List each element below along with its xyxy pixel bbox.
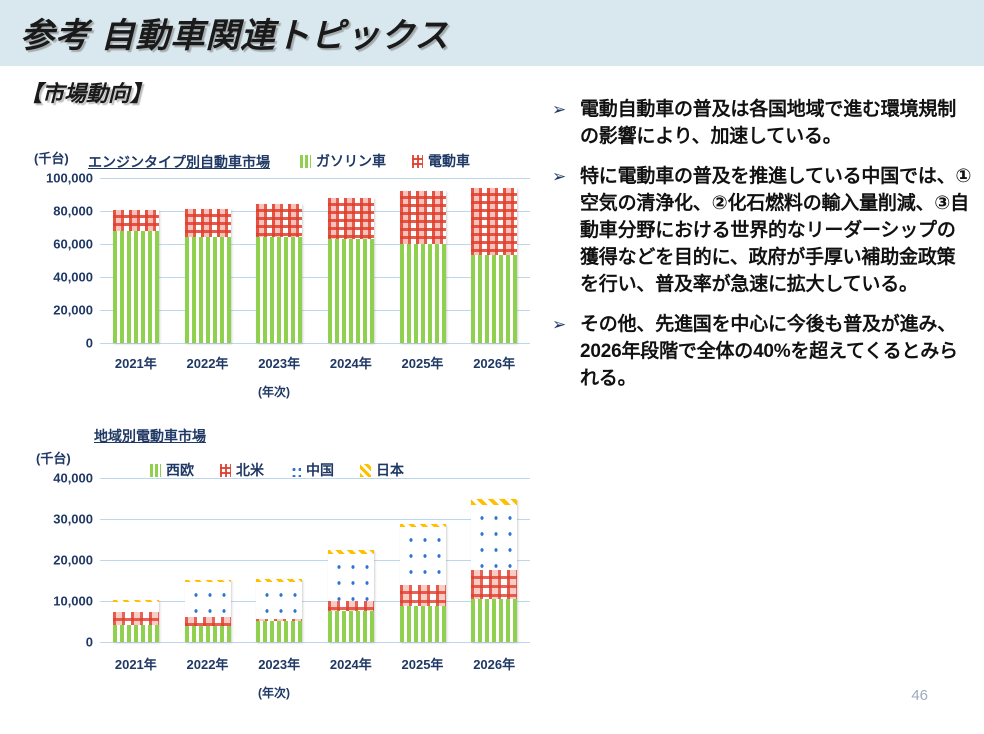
- x-axis-label: (年次): [258, 684, 290, 701]
- legend-item: 電動車: [412, 151, 470, 171]
- x-axis-tick: 2024年: [315, 654, 387, 673]
- y-axis-tick: 20,000: [53, 553, 93, 568]
- x-axis-tick: 2026年: [458, 353, 530, 372]
- bar-segment: [113, 612, 159, 624]
- legend-swatch-icon: [412, 155, 423, 168]
- bullet-item: ➢その他、先進国を中心に今後も普及が進み、2026年段階で全体の40%を超えてく…: [552, 311, 972, 392]
- bullet-item: ➢電動自動車の普及は各国地域で進む環境規制の影響により、加速している。: [552, 96, 972, 150]
- bar-segment: [185, 580, 231, 582]
- gridline: [100, 244, 530, 245]
- bar-segment: [113, 600, 159, 602]
- bar-segment: [400, 244, 446, 343]
- gridline: [100, 519, 530, 520]
- y-axis-tick: 60,000: [53, 237, 93, 252]
- slide-header: 参考 自動車関連トピックス: [0, 0, 984, 66]
- legend-swatch-icon: [220, 464, 231, 477]
- gridline: [100, 478, 530, 479]
- bar-segment: [256, 621, 302, 642]
- bar-stack: [400, 191, 446, 343]
- legend-label: 日本: [376, 460, 404, 480]
- bar-stack: [471, 188, 517, 343]
- bullet-arrow-icon: ➢: [552, 311, 580, 392]
- bar-segment: [113, 602, 159, 612]
- bar-segment: [185, 617, 231, 626]
- legend-label: 中国: [306, 460, 334, 480]
- bar-segment: [113, 625, 159, 642]
- x-axis-tick: 2022年: [172, 353, 244, 372]
- bar-segment: [256, 619, 302, 620]
- bar-stack: [185, 580, 231, 642]
- chart-legend: 西欧北米中国日本: [150, 460, 430, 480]
- bar-segment: [256, 204, 302, 238]
- bar-segment: [471, 599, 517, 642]
- x-axis-tick: 2022年: [172, 654, 244, 673]
- x-axis-tick: 2021年: [100, 353, 172, 372]
- bar-segment: [185, 237, 231, 343]
- chart-regional-ev-market: (千台)地域別電動車市場西欧北米中国日本010,00020,00030,0004…: [0, 424, 545, 699]
- bar-segment: [328, 550, 374, 554]
- page-number: 46: [911, 687, 928, 704]
- bar-segment: [400, 585, 446, 606]
- legend-label: 西欧: [166, 460, 194, 480]
- legend-item: ガソリン車: [300, 151, 386, 171]
- gridline: [100, 642, 530, 643]
- bar-segment: [400, 606, 446, 642]
- bar-segment: [256, 237, 302, 343]
- bar-segment: [185, 582, 231, 618]
- bar-segment: [400, 527, 446, 585]
- x-axis-label: (年次): [258, 383, 290, 400]
- legend-label: ガソリン車: [316, 151, 386, 171]
- bar-segment: [113, 231, 159, 343]
- legend-swatch-icon: [300, 155, 311, 168]
- legend-item: 西欧: [150, 460, 194, 480]
- legend-item: 日本: [360, 460, 404, 480]
- bar-segment: [471, 255, 517, 343]
- bar-stack: [256, 204, 302, 343]
- bar-stack: [113, 210, 159, 343]
- legend-item: 北米: [220, 460, 264, 480]
- plot-area: 010,00020,00030,00040,0002021年2022年2023年…: [100, 478, 530, 642]
- x-axis-tick: 2025年: [387, 654, 459, 673]
- gridline: [100, 178, 530, 179]
- commentary-list: ➢電動自動車の普及は各国地域で進む環境規制の影響により、加速している。➢特に電動…: [552, 96, 972, 405]
- legend-label: 北米: [236, 460, 264, 480]
- gridline: [100, 560, 530, 561]
- x-axis-tick: 2026年: [458, 654, 530, 673]
- bar-segment: [328, 601, 374, 611]
- plot-area: 020,00040,00060,00080,000100,0002021年202…: [100, 178, 530, 343]
- x-axis-tick: 2023年: [243, 353, 315, 372]
- legend-item: 中国: [290, 460, 334, 480]
- gridline: [100, 343, 530, 344]
- bullet-arrow-icon: ➢: [552, 96, 580, 150]
- y-axis-tick: 40,000: [53, 270, 93, 285]
- chart-title: エンジンタイプ別自動車市場: [88, 152, 270, 172]
- y-axis-tick: 10,000: [53, 594, 93, 609]
- page-title: 参考 自動車関連トピックス: [20, 8, 449, 57]
- bullet-text: その他、先進国を中心に今後も普及が進み、2026年段階で全体の40%を超えてくる…: [580, 311, 972, 392]
- gridline: [100, 211, 530, 212]
- section-subtitle: 【市場動向】: [20, 76, 152, 108]
- chart-engine-type-market: (千台)エンジンタイプ別自動車市場ガソリン車電動車020,00040,00060…: [0, 146, 545, 396]
- gridline: [100, 277, 530, 278]
- bar-stack: [256, 579, 302, 642]
- bar-segment: [400, 524, 446, 527]
- bar-stack: [185, 209, 231, 343]
- bullet-text: 電動自動車の普及は各国地域で進む環境規制の影響により、加速している。: [580, 96, 972, 150]
- bar-segment: [328, 554, 374, 601]
- bar-stack: [471, 499, 517, 643]
- bar-stack: [400, 524, 446, 642]
- bar-stack: [113, 600, 159, 642]
- y-axis-tick: 40,000: [53, 471, 93, 486]
- bar-segment: [471, 570, 517, 599]
- y-axis-tick: 30,000: [53, 512, 93, 527]
- bar-segment: [256, 579, 302, 582]
- chart-unit-label: (千台): [36, 448, 71, 467]
- bar-segment: [400, 191, 446, 244]
- bar-segment: [185, 209, 231, 236]
- legend-swatch-icon: [150, 464, 161, 477]
- bar-segment: [328, 611, 374, 642]
- y-axis-tick: 100,000: [46, 171, 93, 186]
- bar-segment: [328, 198, 374, 239]
- bar-segment: [113, 210, 159, 231]
- chart-legend: ガソリン車電動車: [300, 151, 496, 171]
- bar-segment: [471, 188, 517, 255]
- gridline: [100, 310, 530, 311]
- x-axis-tick: 2021年: [100, 654, 172, 673]
- bar-segment: [328, 239, 374, 343]
- chart-title: 地域別電動車市場: [94, 426, 206, 446]
- bar-stack: [328, 198, 374, 343]
- legend-label: 電動車: [428, 151, 470, 171]
- bullet-item: ➢特に電動車の普及を推進している中国では、①空気の清浄化、②化石燃料の輸入量削減…: [552, 163, 972, 298]
- bullet-arrow-icon: ➢: [552, 163, 580, 298]
- gridline: [100, 601, 530, 602]
- x-axis-tick: 2024年: [315, 353, 387, 372]
- bullet-text: 特に電動車の普及を推進している中国では、①空気の清浄化、②化石燃料の輸入量削減、…: [580, 163, 972, 298]
- y-axis-tick: 0: [86, 336, 93, 351]
- bar-segment: [471, 505, 517, 571]
- x-axis-tick: 2023年: [243, 654, 315, 673]
- bar-segment: [471, 499, 517, 505]
- y-axis-tick: 80,000: [53, 204, 93, 219]
- y-axis-tick: 0: [86, 635, 93, 650]
- legend-swatch-icon: [290, 464, 301, 477]
- chart-unit-label: (千台): [34, 148, 69, 167]
- bar-segment: [185, 626, 231, 642]
- bar-stack: [328, 550, 374, 642]
- bar-segment: [256, 582, 302, 619]
- y-axis-tick: 20,000: [53, 303, 93, 318]
- legend-swatch-icon: [360, 464, 371, 477]
- x-axis-tick: 2025年: [387, 353, 459, 372]
